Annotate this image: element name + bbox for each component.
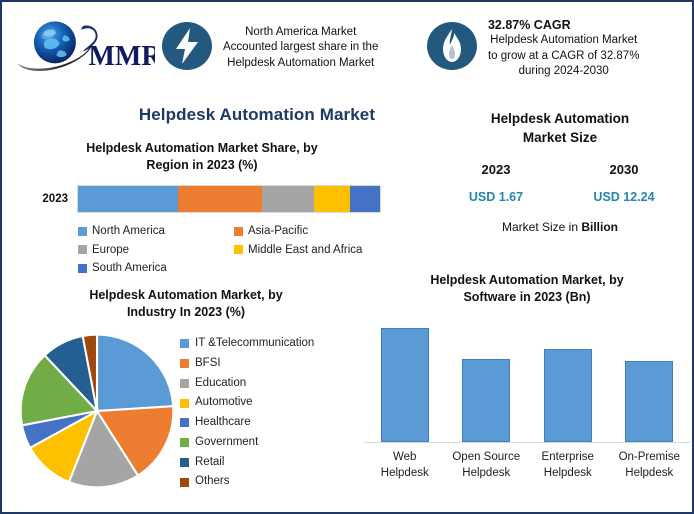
header-bar: MMR North America Market Accounted large…: [2, 2, 692, 94]
header-highlight-text: North America Market Accounted largest s…: [223, 25, 378, 71]
software-axis-label-line: Helpdesk: [381, 467, 429, 479]
software-bar-axis-labels: WebHelpdeskOpen SourceHelpdeskEnterprise…: [364, 450, 690, 481]
region-segment-1: [178, 186, 263, 212]
software-axis-label: EnterpriseHelpdesk: [527, 450, 609, 481]
header-cagr-block: 32.87% CAGR Helpdesk Automation Market t…: [425, 8, 692, 88]
region-legend-item: South America: [78, 259, 390, 278]
industry-legend-item: Retail: [180, 453, 362, 473]
industry-legend: IT &TelecommunicationBFSIEducationAutomo…: [180, 326, 362, 492]
industry-legend-item: Education: [180, 374, 362, 394]
header-cagr-text: 32.87% CAGR Helpdesk Automation Market t…: [488, 17, 640, 80]
header-highlight-block: North America Market Accounted largest s…: [160, 8, 425, 88]
market-size-title-line-1: Helpdesk Automation: [491, 111, 629, 126]
market-size-panel: Helpdesk Automation Market Size 2023 203…: [432, 110, 688, 234]
industry-legend-item: Others: [180, 472, 362, 492]
region-category-label: 2023: [12, 193, 77, 205]
market-size-years: 2023 2030: [432, 162, 688, 177]
region-legend-item: Middle East and Africa: [234, 241, 390, 260]
highlight-line-2: Accounted largest share in the: [223, 40, 378, 55]
industry-pie-svg: [14, 326, 180, 496]
software-axis-label-line: Helpdesk: [625, 467, 673, 479]
industry-legend-label: Automotive: [195, 393, 253, 413]
legend-swatch-icon: [78, 264, 87, 273]
software-axis-label: On-PremiseHelpdesk: [609, 450, 691, 481]
page-title: Helpdesk Automation Market: [62, 105, 452, 125]
region-legend-item: North America: [78, 222, 234, 241]
software-bar-plot: [364, 317, 690, 443]
industry-title-line-2: Industry In 2023 (%): [127, 305, 245, 319]
region-legend-label: North America: [92, 222, 165, 241]
industry-legend-label: Retail: [195, 453, 224, 473]
legend-swatch-icon: [234, 245, 243, 254]
legend-swatch-icon: [180, 339, 189, 348]
market-size-value-end: USD 12.24: [560, 190, 688, 204]
region-legend-label: Middle East and Africa: [248, 241, 362, 260]
region-stacked-bar: [77, 185, 381, 213]
software-bar-chart: Helpdesk Automation Market, by Software …: [364, 272, 690, 481]
industry-legend-item: IT &Telecommunication: [180, 334, 362, 354]
legend-swatch-icon: [180, 458, 189, 467]
legend-swatch-icon: [234, 227, 243, 236]
industry-legend-item: Healthcare: [180, 413, 362, 433]
software-axis-label-line: Helpdesk: [544, 467, 592, 479]
region-chart-title: Helpdesk Automation Market Share, by Reg…: [12, 140, 392, 173]
region-legend-item: Asia-Pacific: [234, 222, 390, 241]
software-bar-3: [625, 361, 673, 442]
region-stack-row: 2023: [12, 185, 392, 213]
industry-legend-label: Government: [195, 433, 258, 453]
industry-pie: [10, 326, 180, 496]
industry-legend-label: IT &Telecommunication: [195, 334, 314, 354]
legend-swatch-icon: [180, 359, 189, 368]
market-size-title-line-2: Market Size: [523, 130, 597, 145]
software-bar-2: [544, 349, 592, 442]
region-segment-2: [262, 186, 313, 212]
pie-slice-0: [97, 335, 173, 411]
software-bar-column: [446, 317, 528, 442]
industry-legend-label: Education: [195, 374, 246, 394]
region-legend-label: South America: [92, 259, 167, 278]
market-size-values: USD 1.67 USD 12.24: [432, 190, 688, 204]
region-legend-item: Europe: [78, 241, 234, 260]
region-legend: North AmericaAsia-PacificEuropeMiddle Ea…: [78, 222, 390, 278]
industry-legend-label: Healthcare: [195, 413, 251, 433]
market-size-year-end: 2030: [560, 162, 688, 177]
software-title-line-1: Helpdesk Automation Market, by: [430, 273, 623, 287]
logo-wordmark: MMR: [89, 41, 156, 72]
market-size-note-unit: Billion: [581, 220, 618, 234]
region-title-line-1: Helpdesk Automation Market Share, by: [86, 141, 318, 155]
software-axis-label-line: Web: [393, 451, 416, 463]
software-axis-label-line: On-Premise: [619, 451, 680, 463]
highlight-line-3: Helpdesk Automation Market: [223, 56, 378, 71]
market-size-note-prefix: Market Size in: [502, 220, 581, 234]
software-bar-column: [364, 317, 446, 442]
software-bar-column: [527, 317, 609, 442]
software-bar-0: [381, 328, 429, 442]
region-legend-label: Asia-Pacific: [248, 222, 308, 241]
industry-legend-label: BFSI: [195, 354, 221, 374]
software-axis-label: Open SourceHelpdesk: [446, 450, 528, 481]
industry-chart-title: Helpdesk Automation Market, by Industry …: [10, 287, 362, 320]
region-legend-label: Europe: [92, 241, 129, 260]
cagr-headline: 32.87% CAGR: [488, 17, 640, 34]
region-segment-0: [78, 186, 178, 212]
region-segment-3: [314, 186, 350, 212]
software-chart-title: Helpdesk Automation Market, by Software …: [364, 272, 690, 305]
industry-legend-item: BFSI: [180, 354, 362, 374]
legend-swatch-icon: [180, 418, 189, 427]
software-bar-column: [609, 317, 691, 442]
legend-swatch-icon: [78, 227, 87, 236]
cagr-line-2: to grow at a CAGR of 32.87%: [488, 49, 640, 64]
cagr-line-3: during 2024-2030: [488, 64, 640, 79]
industry-legend-item: Government: [180, 433, 362, 453]
region-title-line-2: Region in 2023 (%): [146, 158, 257, 172]
infographic-canvas: MMR North America Market Accounted large…: [0, 0, 694, 514]
cagr-line-1: Helpdesk Automation Market: [488, 33, 640, 48]
legend-swatch-icon: [78, 245, 87, 254]
legend-swatch-icon: [180, 399, 189, 408]
legend-swatch-icon: [180, 379, 189, 388]
market-size-title: Helpdesk Automation Market Size: [432, 110, 688, 148]
region-share-chart: Helpdesk Automation Market Share, by Reg…: [12, 140, 392, 278]
region-segment-4: [350, 186, 380, 212]
software-axis-label: WebHelpdesk: [364, 450, 446, 481]
software-axis-label-line: Helpdesk: [462, 467, 510, 479]
software-title-line-2: Software in 2023 (Bn): [463, 290, 590, 304]
industry-chart-body: IT &TelecommunicationBFSIEducationAutomo…: [10, 326, 362, 496]
market-size-year-start: 2023: [432, 162, 560, 177]
industry-share-chart: Helpdesk Automation Market, by Industry …: [10, 287, 362, 496]
market-size-unit-note: Market Size in Billion: [432, 220, 688, 234]
software-bar-1: [462, 359, 510, 442]
industry-legend-item: Automotive: [180, 393, 362, 413]
flame-icon: [425, 19, 479, 78]
software-axis-label-line: Open Source: [452, 451, 520, 463]
software-axis-label-line: Enterprise: [542, 451, 594, 463]
mmr-globe-logo: MMR: [10, 13, 160, 83]
industry-title-line-1: Helpdesk Automation Market, by: [89, 288, 282, 302]
legend-swatch-icon: [180, 478, 189, 487]
industry-legend-label: Others: [195, 472, 230, 492]
lightning-bolt-icon: [160, 19, 214, 78]
market-size-value-start: USD 1.67: [432, 190, 560, 204]
highlight-line-1: North America Market: [223, 25, 378, 40]
legend-swatch-icon: [180, 438, 189, 447]
logo-svg: MMR: [15, 17, 155, 79]
